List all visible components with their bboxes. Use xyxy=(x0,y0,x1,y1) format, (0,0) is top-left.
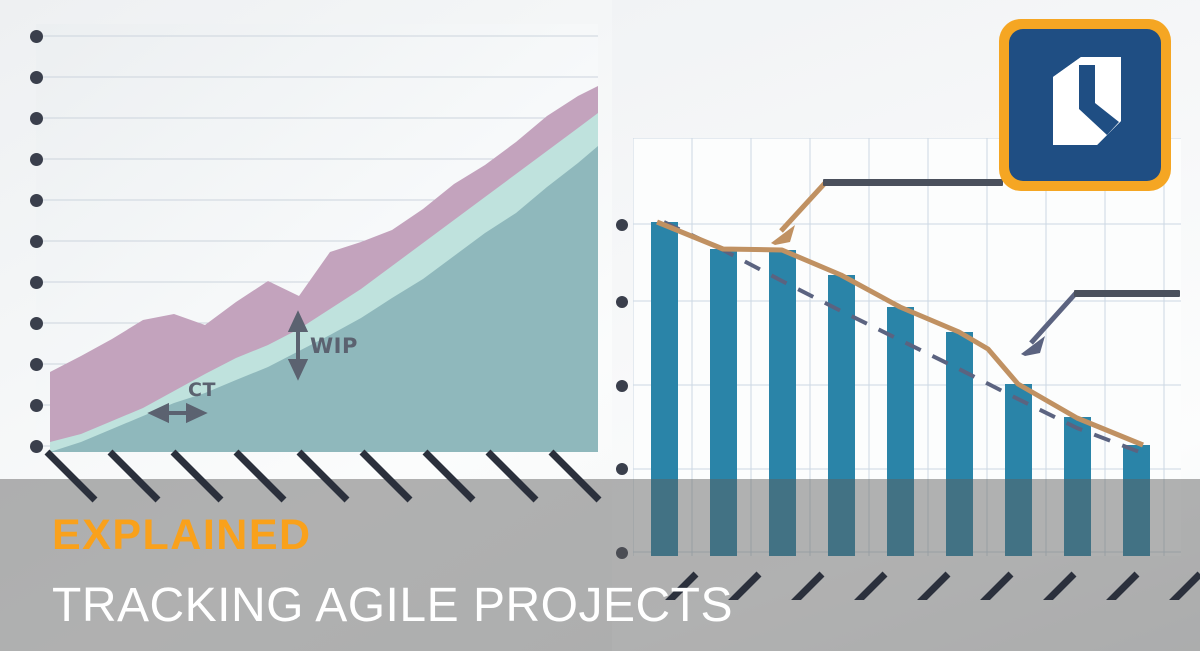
logo-tile xyxy=(1009,29,1161,181)
cfd-plot-area xyxy=(36,24,598,452)
callout-bar-actual xyxy=(823,179,1003,186)
left-dot xyxy=(30,317,43,330)
callout-bar-ideal xyxy=(1074,290,1180,297)
wip-label: WIP xyxy=(310,334,358,358)
right-dot xyxy=(616,380,628,392)
headline-text: TRACKING AGILE PROJECTS xyxy=(52,578,733,633)
left-dot xyxy=(30,153,43,166)
left-dot xyxy=(30,194,43,207)
left-dot xyxy=(30,276,43,289)
left-dot xyxy=(30,358,43,371)
left-dot xyxy=(30,235,43,248)
brand-logo[interactable] xyxy=(999,19,1171,191)
poster-canvas: WIP CT xyxy=(0,0,1200,651)
cumulative-flow-diagram: WIP CT xyxy=(36,24,598,452)
kicker-text: EXPLAINED xyxy=(52,511,312,560)
left-dot xyxy=(30,399,43,412)
right-dot xyxy=(616,463,628,475)
left-dot xyxy=(30,71,43,84)
left-dot xyxy=(30,30,43,43)
right-dot xyxy=(616,296,628,308)
left-dot xyxy=(30,112,43,125)
document-clock-icon xyxy=(1009,29,1161,181)
right-dot xyxy=(616,219,628,231)
ct-label: CT xyxy=(188,379,216,401)
left-dot xyxy=(30,440,43,453)
